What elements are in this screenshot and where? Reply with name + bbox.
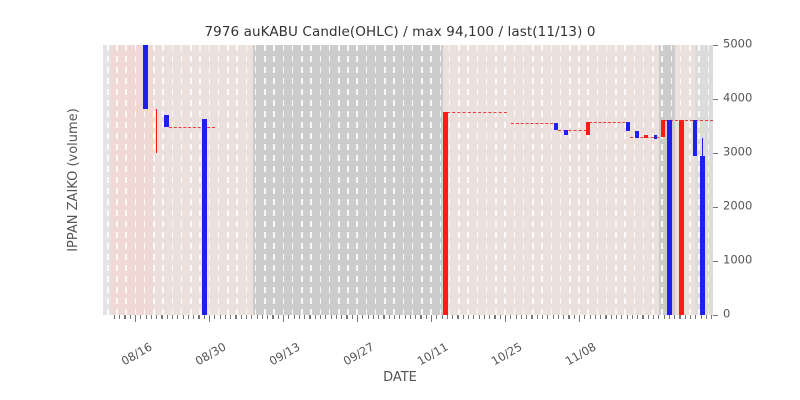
gridline [624, 45, 626, 315]
gridline [190, 45, 192, 315]
gridline [162, 45, 164, 315]
x-axis-minor-tick [352, 315, 353, 319]
x-tick-label: 11/08 [563, 340, 599, 369]
gridline [347, 45, 349, 315]
gridline [569, 45, 571, 315]
plot-area [103, 45, 713, 315]
x-axis-minor-tick [167, 315, 168, 319]
gridline [421, 45, 423, 315]
x-axis-minor-tick [341, 315, 342, 319]
x-tick-label: 09/13 [267, 340, 303, 369]
x-axis-minor-tick [272, 315, 273, 319]
x-axis-minor-tick [537, 315, 538, 319]
x-axis-minor-tick [373, 315, 374, 319]
x-axis-minor-tick [177, 315, 178, 319]
x-tick-label: 08/30 [193, 340, 229, 369]
gridline [356, 45, 358, 315]
gridline [587, 45, 589, 315]
y-tick-label: 4000 [723, 93, 752, 105]
x-axis-minor-tick [288, 315, 289, 319]
x-axis-minor-tick [531, 315, 532, 319]
gridline [615, 45, 617, 315]
gridline [606, 45, 608, 315]
gridline [449, 45, 451, 315]
x-axis-minor-tick [405, 315, 406, 319]
gridline [578, 45, 580, 315]
gridline [227, 45, 229, 315]
gridline [652, 45, 654, 315]
x-axis-minor-tick [632, 315, 633, 319]
x-axis-minor-tick [616, 315, 617, 319]
x-axis-minor-tick [156, 315, 157, 319]
gridline [116, 45, 118, 315]
x-axis-minor-tick [262, 315, 263, 319]
gridline [246, 45, 248, 315]
x-axis-minor-tick [193, 315, 194, 319]
gridline [255, 45, 257, 315]
x-tick-label: 10/25 [489, 340, 525, 369]
y-axis-title: IPPAN ZAIKO (volume) [66, 45, 92, 315]
y-tick-mark [713, 45, 718, 46]
gridline [135, 45, 137, 315]
x-axis-minor-tick [648, 315, 649, 319]
candle-body [554, 123, 558, 130]
x-axis-minor-tick [664, 315, 665, 319]
candle-body [679, 120, 684, 315]
candle-body [564, 130, 568, 135]
x-axis-minor-tick [214, 315, 215, 319]
gridline [153, 45, 155, 315]
x-axis-minor-tick [368, 315, 369, 319]
candle-body [667, 120, 672, 315]
y-tick-mark [713, 261, 718, 262]
x-axis-minor-tick [267, 315, 268, 319]
x-axis-major-tick [357, 315, 358, 322]
x-axis-minor-tick [479, 315, 480, 319]
x-axis-minor-tick [336, 315, 337, 319]
x-axis-minor-tick [568, 315, 569, 319]
x-tick-label: 09/27 [341, 340, 377, 369]
gridline [643, 45, 645, 315]
candle-body [693, 120, 697, 156]
x-axis-minor-tick [246, 315, 247, 319]
gridline [532, 45, 534, 315]
x-axis-minor-tick [183, 315, 184, 319]
gridline [310, 45, 312, 315]
gridline [366, 45, 368, 315]
x-axis-minor-tick [521, 315, 522, 319]
x-axis-major-tick [505, 315, 506, 322]
x-axis-minor-tick [553, 315, 554, 319]
candle-body [143, 45, 148, 109]
x-axis-minor-tick [146, 315, 147, 319]
y-tick-mark [713, 153, 718, 154]
candle-body [586, 122, 590, 136]
candle-body [644, 135, 648, 138]
x-axis-minor-tick [563, 315, 564, 319]
x-axis-minor-tick [436, 315, 437, 319]
gridline [467, 45, 469, 315]
x-axis-minor-tick [410, 315, 411, 319]
candle-body [626, 122, 630, 132]
x-axis-minor-tick [547, 315, 548, 319]
gridline [477, 45, 479, 315]
x-axis-minor-tick [595, 315, 596, 319]
x-axis-minor-tick [294, 315, 295, 319]
gridline [264, 45, 266, 315]
gridline [273, 45, 275, 315]
x-axis-minor-tick [325, 315, 326, 319]
x-axis-minor-tick [299, 315, 300, 319]
gridline [107, 45, 109, 315]
x-axis-minor-tick [383, 315, 384, 319]
x-axis-minor-tick [124, 315, 125, 319]
x-axis-minor-tick [420, 315, 421, 319]
x-axis-major-tick [209, 315, 210, 322]
y-tick-label: 3000 [723, 147, 752, 159]
x-axis-minor-tick [457, 315, 458, 319]
x-axis-minor-tick [653, 315, 654, 319]
x-axis-minor-tick [278, 315, 279, 319]
chart-title: 7976 auKABU Candle(OHLC) / max 94,100 / … [0, 24, 800, 40]
gridline [689, 45, 691, 315]
last-value-segment [589, 122, 630, 123]
x-axis-minor-tick [315, 315, 316, 319]
x-axis-minor-tick [473, 315, 474, 319]
gridline [172, 45, 174, 315]
x-axis-minor-tick [426, 315, 427, 319]
x-axis-minor-tick [542, 315, 543, 319]
gridline [486, 45, 488, 315]
gridline [661, 45, 663, 315]
gridline [393, 45, 395, 315]
x-axis-minor-tick [516, 315, 517, 319]
gridline [504, 45, 506, 315]
y-tick-label: 0 [723, 309, 730, 321]
x-axis-major-tick [283, 315, 284, 322]
y-tick-mark [713, 99, 718, 100]
candle-body [654, 135, 657, 139]
gridline [181, 45, 183, 315]
x-axis-minor-tick [172, 315, 173, 319]
y-tick-label: 2000 [723, 201, 752, 213]
x-axis-minor-tick [320, 315, 321, 319]
y-tick-mark [713, 207, 718, 208]
gridline [403, 45, 405, 315]
candle-body [635, 131, 639, 138]
x-axis-minor-tick [701, 315, 702, 319]
y-tick-label: 5000 [723, 39, 752, 51]
x-axis-minor-tick [642, 315, 643, 319]
x-axis-minor-tick [468, 315, 469, 319]
x-axis-minor-tick [230, 315, 231, 319]
gridline [458, 45, 460, 315]
last-value-segment [511, 123, 558, 124]
gridline [560, 45, 562, 315]
x-axis-minor-tick [489, 315, 490, 319]
x-axis-minor-tick [399, 315, 400, 319]
x-axis-minor-tick [711, 315, 712, 319]
x-axis-minor-tick [188, 315, 189, 319]
x-axis-minor-tick [251, 315, 252, 319]
x-axis-major-tick [135, 315, 136, 322]
x-axis-minor-tick [621, 315, 622, 319]
gridline [292, 45, 294, 315]
x-axis-minor-tick [584, 315, 585, 319]
gridline [634, 45, 636, 315]
y-tick-label: 1000 [723, 255, 752, 267]
x-axis-minor-tick [452, 315, 453, 319]
last-value-segment [447, 112, 507, 113]
x-axis-minor-tick [389, 315, 390, 319]
gridline [514, 45, 516, 315]
x-axis-major-tick [579, 315, 580, 322]
gridline [338, 45, 340, 315]
x-axis-minor-tick [309, 315, 310, 319]
x-axis-minor-tick [510, 315, 511, 319]
x-axis-minor-tick [304, 315, 305, 319]
x-axis-minor-tick [706, 315, 707, 319]
gridline [301, 45, 303, 315]
gridline [708, 45, 710, 315]
gridline [597, 45, 599, 315]
gridline [375, 45, 377, 315]
x-axis-minor-tick [526, 315, 527, 319]
x-axis-minor-tick [235, 315, 236, 319]
x-tick-label: 08/16 [119, 340, 155, 369]
x-axis-major-tick [431, 315, 432, 322]
x-axis-minor-tick [378, 315, 379, 319]
x-axis-minor-tick [204, 315, 205, 319]
gridline [495, 45, 497, 315]
x-axis-minor-tick [600, 315, 601, 319]
x-axis-minor-tick [161, 315, 162, 319]
x-axis-minor-tick [590, 315, 591, 319]
x-axis-minor-tick [394, 315, 395, 319]
gridline [125, 45, 127, 315]
candle-body [700, 156, 705, 315]
x-axis-minor-tick [574, 315, 575, 319]
gridline [440, 45, 442, 315]
x-axis-minor-tick [605, 315, 606, 319]
x-axis-minor-tick [130, 315, 131, 319]
gridline [236, 45, 238, 315]
x-axis-minor-tick [442, 315, 443, 319]
x-axis-minor-tick [669, 315, 670, 319]
x-tick-label: 10/11 [415, 340, 451, 369]
x-axis-ticks [103, 315, 713, 323]
x-axis-minor-tick [447, 315, 448, 319]
candle-body [661, 120, 665, 137]
background-band [675, 45, 695, 315]
x-axis-minor-tick [637, 315, 638, 319]
last-value-segment [665, 120, 713, 121]
gridline [320, 45, 322, 315]
x-axis-minor-tick [463, 315, 464, 319]
gridline [412, 45, 414, 315]
gridline [283, 45, 285, 315]
x-axis-minor-tick [114, 315, 115, 319]
x-axis-minor-tick [198, 315, 199, 319]
x-axis-minor-tick [220, 315, 221, 319]
x-axis-minor-tick [484, 315, 485, 319]
candle-wick [156, 109, 157, 153]
gridline [523, 45, 525, 315]
x-axis-tick-labels: 08/1608/3009/1309/2710/1110/2511/08 [103, 323, 713, 369]
x-axis-minor-tick [674, 315, 675, 319]
gridline [218, 45, 220, 315]
last-value-segment [558, 130, 587, 131]
x-axis-minor-tick [151, 315, 152, 319]
last-value-segment [169, 127, 215, 128]
gridline [199, 45, 201, 315]
chart-figure: 7976 auKABU Candle(OHLC) / max 94,100 / … [0, 0, 800, 400]
x-axis-minor-tick [415, 315, 416, 319]
x-axis-minor-tick [362, 315, 363, 319]
x-axis-minor-tick [241, 315, 242, 319]
x-axis-minor-tick [346, 315, 347, 319]
gridline [329, 45, 331, 315]
x-axis-minor-tick [119, 315, 120, 319]
candle-body [202, 119, 207, 315]
x-axis-minor-tick [140, 315, 141, 319]
gridline [384, 45, 386, 315]
gridline [551, 45, 553, 315]
x-axis-minor-tick [685, 315, 686, 319]
gridline [209, 45, 211, 315]
x-axis-minor-tick [611, 315, 612, 319]
x-axis-minor-tick [679, 315, 680, 319]
x-axis-minor-tick [627, 315, 628, 319]
x-axis-minor-tick [331, 315, 332, 319]
x-axis-minor-tick [494, 315, 495, 319]
x-axis-minor-tick [690, 315, 691, 319]
x-axis-minor-tick [695, 315, 696, 319]
x-axis-minor-tick [500, 315, 501, 319]
y-tick-mark [713, 315, 718, 316]
y-axis-ticks: 010002000300040005000 [713, 45, 798, 315]
x-axis-minor-tick [257, 315, 258, 319]
x-axis-minor-tick [225, 315, 226, 319]
gridline [430, 45, 432, 315]
candle-body [443, 112, 448, 315]
x-axis-minor-tick [658, 315, 659, 319]
gridline [541, 45, 543, 315]
x-axis-minor-tick [558, 315, 559, 319]
x-axis-title: DATE [0, 370, 800, 385]
candle-body [164, 115, 169, 127]
